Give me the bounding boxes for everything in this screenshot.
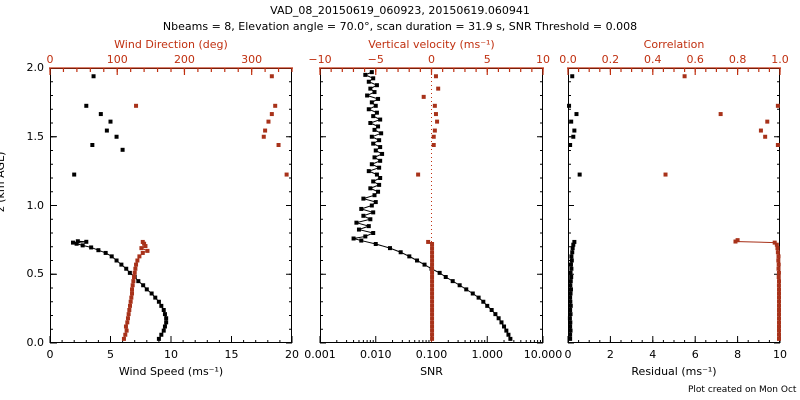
x-tick-label-bottom: 0.001 <box>304 348 336 361</box>
x-tick-label-top: 0.2 <box>602 53 620 66</box>
y-tick-label: 2.0 <box>27 61 45 74</box>
x-tick-label-top: 300 <box>241 53 262 66</box>
plot-subtitle: Nbeams = 8, Elevation angle = 70.0°, sca… <box>163 20 637 33</box>
panel3-xaxis-title: Residual (ms⁻¹) <box>631 365 716 378</box>
vad-plot-figure: VAD_08_20150619_060923, 20150619.060941 … <box>0 0 800 400</box>
x-tick-label-top: 0.0 <box>559 53 577 66</box>
panel-wind <box>50 68 292 343</box>
panel2-xaxis-title: SNR <box>420 365 443 378</box>
x-tick-label-top: 10 <box>536 53 550 66</box>
x-tick-label-bottom: 10 <box>773 348 787 361</box>
x-tick-label-bottom: 10 <box>164 348 178 361</box>
y-axis-label: z (km AGL) <box>0 152 7 212</box>
panel-snr <box>320 68 543 343</box>
x-tick-label-top: −10 <box>308 53 331 66</box>
y-tick-label: 1.0 <box>27 199 45 212</box>
x-tick-label-bottom: 0.010 <box>360 348 392 361</box>
x-tick-label-top: −5 <box>368 53 384 66</box>
x-tick-label-bottom: 0 <box>565 348 572 361</box>
x-tick-label-top: 200 <box>174 53 195 66</box>
y-tick-label: 1.5 <box>27 130 45 143</box>
x-tick-label-bottom: 4 <box>649 348 656 361</box>
x-tick-label-top: 5 <box>484 53 491 66</box>
x-tick-label-bottom: 15 <box>225 348 239 361</box>
x-tick-label-bottom: 1.000 <box>472 348 504 361</box>
x-tick-label-bottom: 10.000 <box>524 348 563 361</box>
x-tick-label-bottom: 0.100 <box>416 348 448 361</box>
x-tick-label-top: 0.6 <box>686 53 704 66</box>
x-tick-label-top: 0 <box>47 53 54 66</box>
y-tick-label: 0.0 <box>27 336 45 349</box>
plot-footer-timestamp: Plot created on Mon Oct 12 20:27:14 2015 <box>688 385 800 395</box>
x-tick-label-bottom: 20 <box>285 348 299 361</box>
panel1-xaxis-top-title: Wind Direction (deg) <box>114 38 228 51</box>
x-tick-label-bottom: 6 <box>692 348 699 361</box>
x-tick-label-bottom: 8 <box>734 348 741 361</box>
plot-title: VAD_08_20150619_060923, 20150619.060941 <box>270 4 530 17</box>
x-tick-label-bottom: 0 <box>47 348 54 361</box>
panel-residual <box>568 68 780 343</box>
y-tick-label: 0.5 <box>27 267 45 280</box>
x-tick-label-top: 1.0 <box>771 53 789 66</box>
x-tick-label-top: 100 <box>107 53 128 66</box>
panel3-xaxis-top-title: Correlation <box>644 38 705 51</box>
x-tick-label-top: 0.8 <box>729 53 747 66</box>
x-tick-label-top: 0.4 <box>644 53 662 66</box>
panel2-xaxis-top-title: Vertical velocity (ms⁻¹) <box>368 38 494 51</box>
x-tick-label-bottom: 5 <box>107 348 114 361</box>
x-tick-label-top: 0 <box>428 53 435 66</box>
panel1-xaxis-title: Wind Speed (ms⁻¹) <box>119 365 223 378</box>
x-tick-label-bottom: 2 <box>607 348 614 361</box>
